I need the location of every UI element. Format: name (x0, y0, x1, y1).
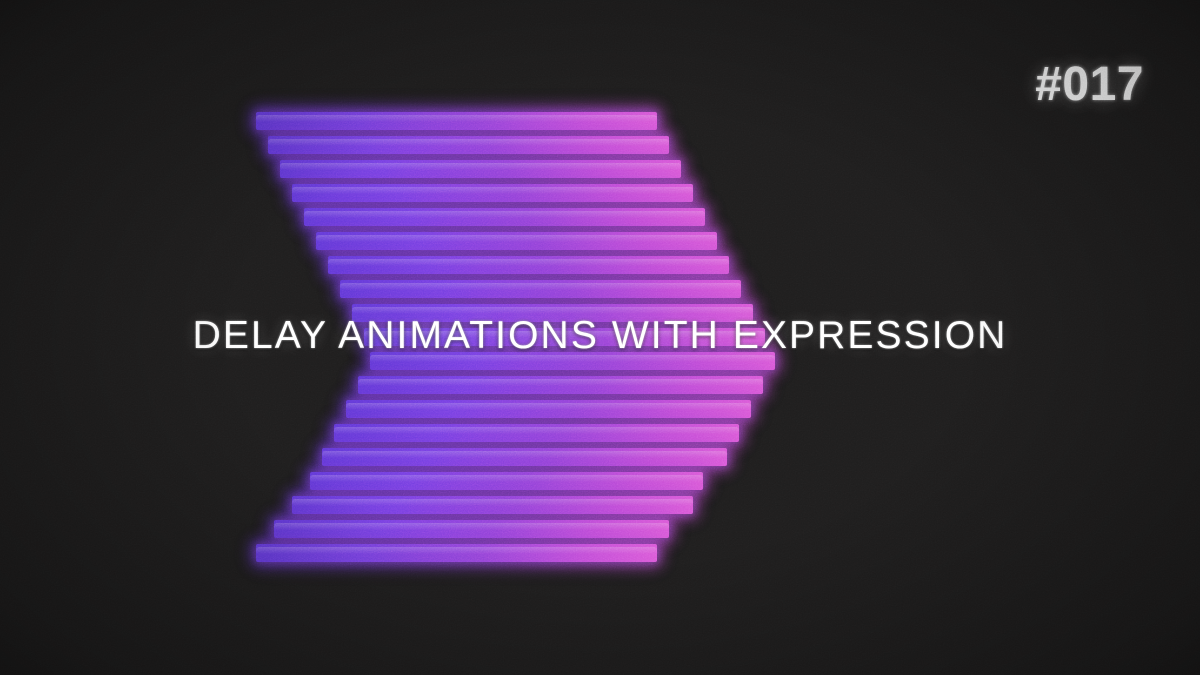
poster-canvas: DELAY ANIMATIONS WITH EXPRESSION #017 (0, 0, 1200, 675)
animated-bar (328, 256, 729, 274)
animated-bar (292, 184, 693, 202)
animated-bar (304, 208, 705, 226)
animated-bar (358, 376, 763, 394)
animated-bar (292, 496, 693, 514)
animated-bar (310, 472, 703, 490)
animated-bar (346, 400, 751, 418)
animated-bar (256, 112, 657, 130)
animated-bar (340, 280, 741, 298)
animated-bar (268, 136, 669, 154)
animated-bar (280, 160, 681, 178)
animated-bar (274, 520, 669, 538)
animated-bar (316, 232, 717, 250)
episode-number-badge: #017 (1035, 58, 1144, 112)
animated-bar (256, 544, 657, 562)
animated-bar (334, 424, 739, 442)
page-title: DELAY ANIMATIONS WITH EXPRESSION (0, 312, 1200, 360)
animated-bar (322, 448, 727, 466)
